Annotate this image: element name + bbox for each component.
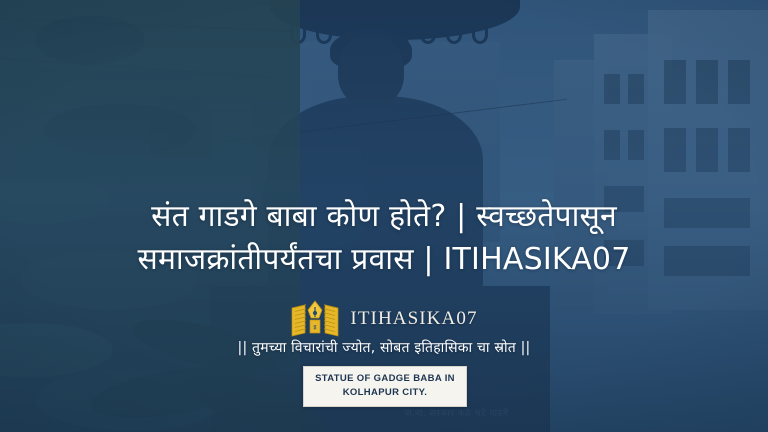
open-book-with-pen-nib-icon: इ [290,300,340,338]
brand-name: ITIHASIKA07 [350,308,477,330]
overlay-content: संत गाडगे बाबा कोण होते? | स्वच्छतेपासून… [0,0,768,432]
image-caption-line-1: STATUE OF GADGE BABA IN [310,372,460,386]
page-title-line-1: संत गाडगे बाबा कोण होते? | स्वच्छतेपासून [56,196,712,239]
page-title-line-2: समाजक्रांतीपर्यंतचा प्रवास | ITIHASIKA07 [56,239,712,282]
page-title: संत गाडगे बाबा कोण होते? | स्वच्छतेपासून… [0,196,768,281]
image-caption-line-2: KOLHAPUR CITY. [310,386,460,400]
brand-tagline: || तुमच्या विचारांची ज्योत, सोबत इतिहासि… [0,338,768,357]
brand-lockup: इ ITIHASIKA07 [0,300,768,338]
article-featured-image: पा.ना. सरकार कंठे भटे गाडगे संत गाडगे बा… [0,0,768,432]
image-caption-box: STATUE OF GADGE BABA IN KOLHAPUR CITY. [303,366,467,407]
